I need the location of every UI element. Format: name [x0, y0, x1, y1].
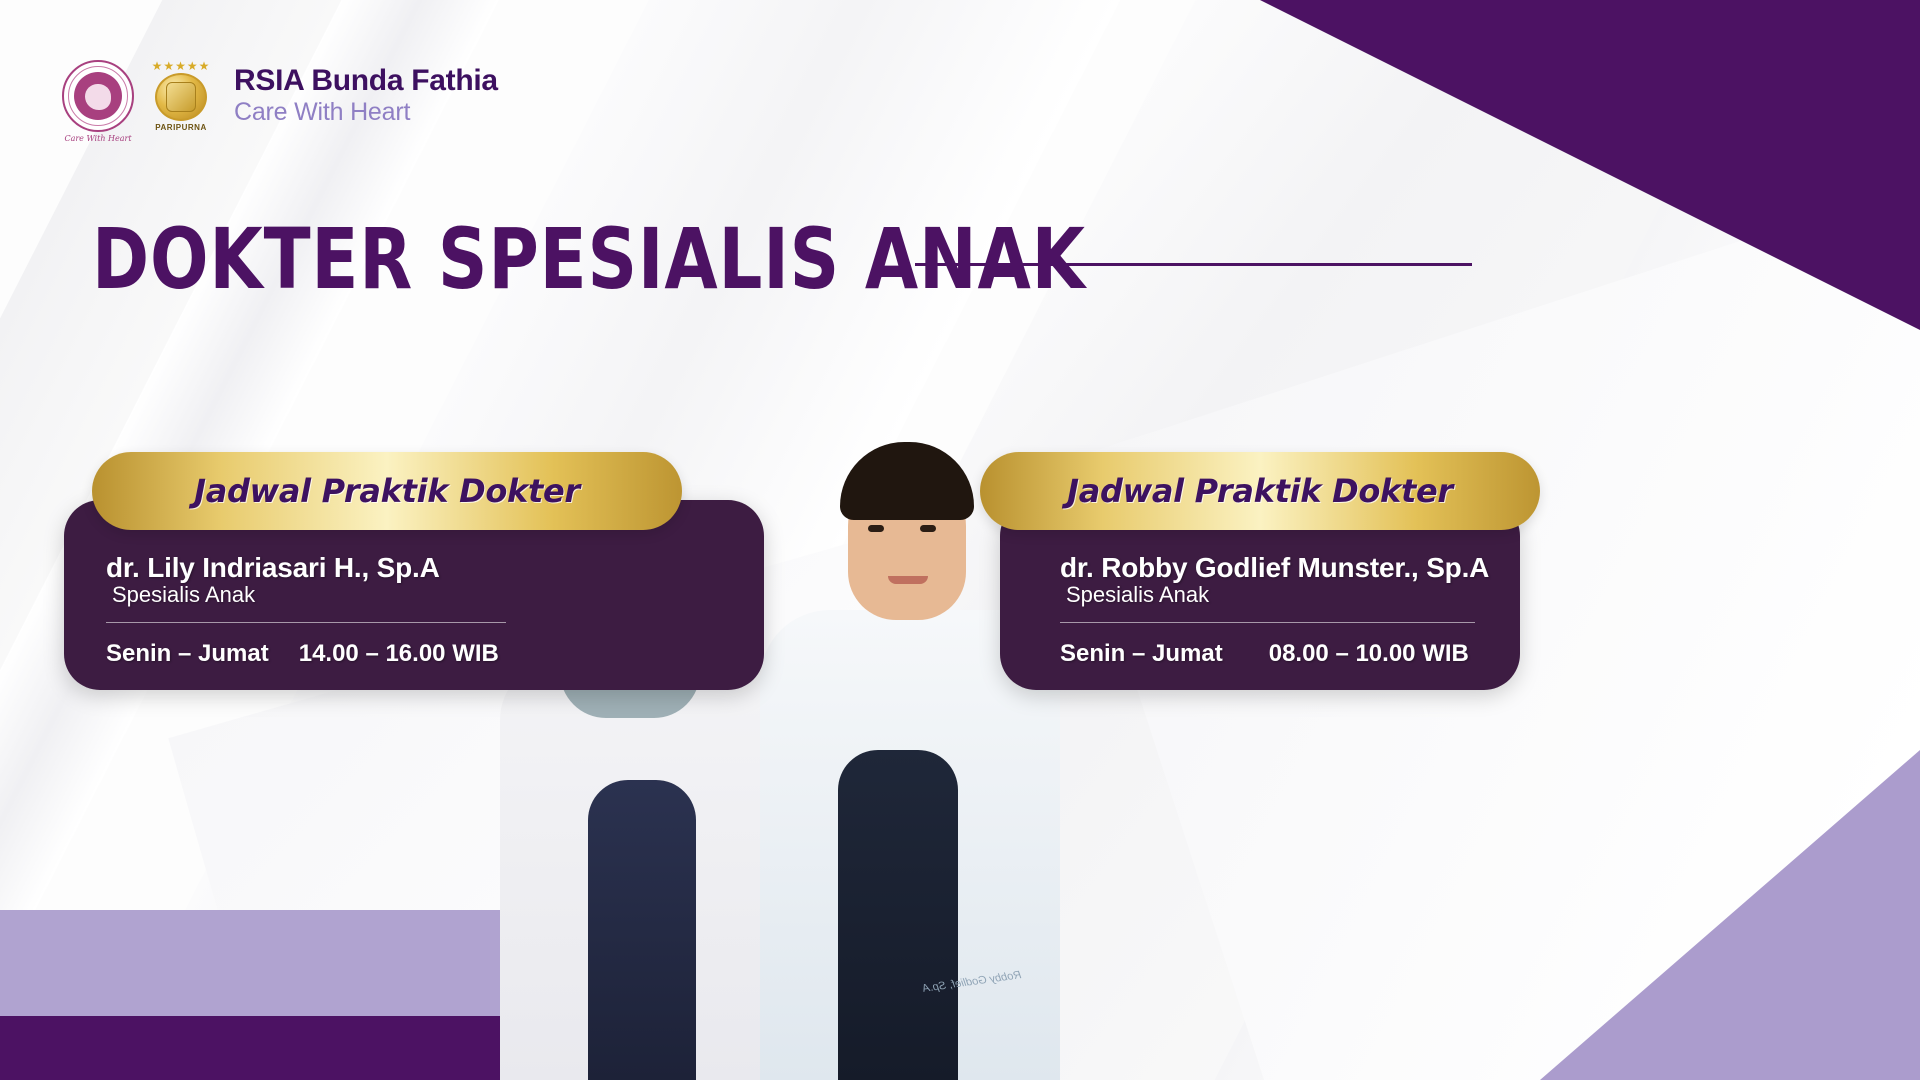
mother-and-baby-icon — [85, 84, 111, 110]
schedule-card-left: Jadwal Praktik Dokter dr. Lily Indriasar… — [64, 500, 764, 690]
seal-inner — [74, 72, 122, 120]
doctor-specialty: Spesialis Anak — [1066, 582, 1486, 608]
ribbon-banner: Jadwal Praktik Dokter — [92, 452, 682, 530]
hair — [840, 442, 974, 520]
ribbon-label: Jadwal Praktik Dokter — [194, 472, 580, 510]
base-strip-bottom-left — [0, 1016, 520, 1080]
divider — [106, 622, 506, 623]
accreditation-badge-icon: ★★★★★ PARIPURNA — [148, 60, 214, 132]
corner-shape-top-right — [1260, 0, 1920, 330]
divider — [1060, 622, 1475, 623]
schedule-card-right: Jadwal Praktik Dokter dr. Robby Godlief … — [1000, 500, 1520, 690]
brand-text-block: RSIA Bunda Fathia Care With Heart — [234, 65, 498, 127]
brand-name: RSIA Bunda Fathia — [234, 65, 498, 97]
lab-coat — [500, 660, 780, 1080]
inner-garment — [588, 780, 696, 1080]
coin-core — [166, 82, 196, 112]
brand-tagline: Care With Heart — [234, 98, 498, 127]
eye — [868, 525, 884, 532]
corner-shape-bottom-right — [1540, 750, 1920, 1080]
schedule-time: 14.00 – 16.00 WIB — [299, 640, 499, 668]
hospital-seal-icon: Care With Heart — [62, 60, 134, 132]
schedule-row: Senin – Jumat 14.00 – 16.00 WIB — [106, 640, 722, 668]
star-rating-icon: ★★★★★ — [152, 60, 211, 72]
card-body: dr. Robby Godlief Munster., Sp.A Spesial… — [1000, 552, 1520, 668]
band-bottom-left — [0, 910, 540, 1018]
mouth — [888, 576, 928, 584]
schedule-days: Senin – Jumat — [106, 640, 269, 668]
gold-coin-icon — [155, 73, 207, 121]
page-title: DOKTER SPESIALIS ANAK — [92, 218, 1086, 300]
schedule-row: Senin – Jumat 08.00 – 10.00 WIB — [1060, 640, 1486, 668]
poster-canvas: Care With Heart ★★★★★ PARIPURNA RSIA Bun… — [0, 0, 1920, 1080]
title-rule — [915, 263, 1472, 266]
eye — [920, 525, 936, 532]
doctor-specialty: Spesialis Anak — [112, 582, 722, 608]
accreditation-label: PARIPURNA — [155, 123, 206, 132]
seal-caption: Care With Heart — [64, 134, 131, 143]
schedule-days: Senin – Jumat — [1060, 640, 1223, 668]
brand-header: Care With Heart ★★★★★ PARIPURNA RSIA Bun… — [62, 60, 498, 132]
schedule-time: 08.00 – 10.00 WIB — [1269, 640, 1469, 668]
inner-shirt — [838, 750, 958, 1080]
card-body: dr. Lily Indriasari H., Sp.A Spesialis A… — [64, 552, 764, 668]
ribbon-banner: Jadwal Praktik Dokter — [980, 452, 1540, 530]
doctor-name: dr. Lily Indriasari H., Sp.A — [106, 552, 722, 584]
ribbon-label: Jadwal Praktik Dokter — [1067, 472, 1453, 510]
doctor-name: dr. Robby Godlief Munster., Sp.A — [1060, 552, 1486, 584]
